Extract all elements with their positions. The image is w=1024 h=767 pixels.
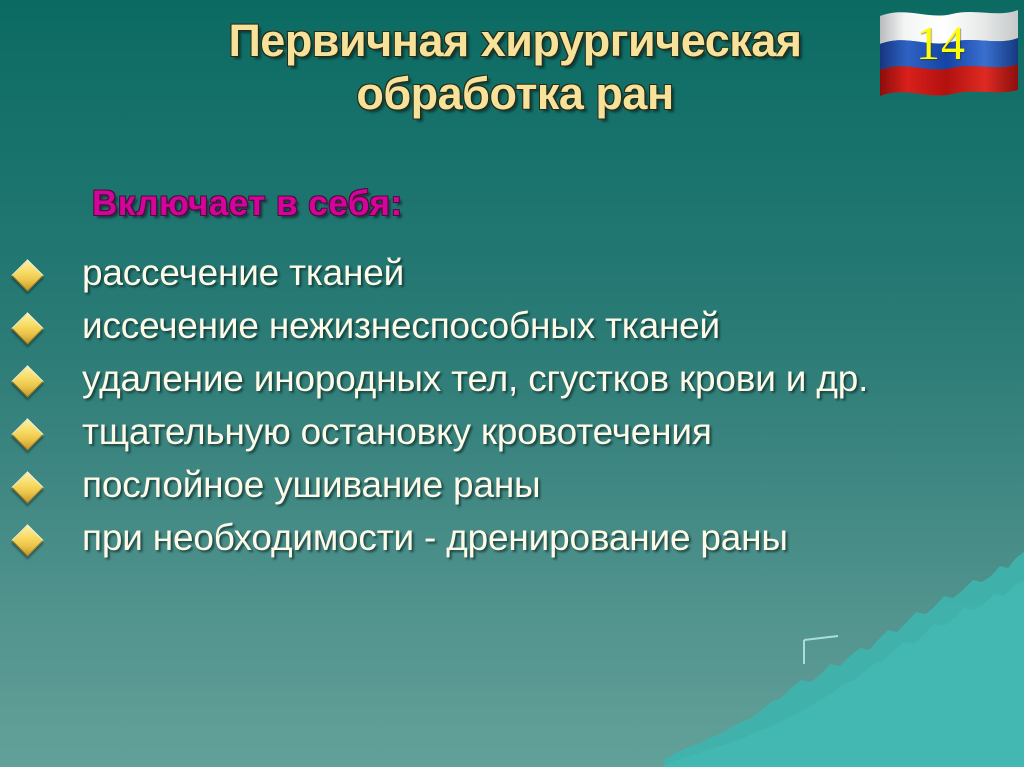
page-title: Первичная хирургическая обработка ран [120, 14, 910, 120]
list-item-label: иссечение нежизнеспособных тканей [82, 303, 1010, 350]
diamond-bullet-icon [10, 462, 82, 499]
list-item: иссечение нежизнеспособных тканей [10, 303, 1010, 350]
list-item: рассечение тканей [10, 250, 1010, 297]
list-item-label: рассечение тканей [82, 250, 1010, 297]
title-line-1: Первичная хирургическая [120, 14, 910, 67]
diamond-bullet-icon [10, 409, 82, 446]
diamond-bullet-icon [10, 515, 82, 552]
presentation-slide: Первичная хирургическая обработка ран [0, 0, 1024, 767]
slide-number: 14 [916, 20, 966, 68]
list-item-label: удаление инородных тел, сгустков крови и… [82, 356, 1010, 403]
list-item-label: при необходимости - дренирование раны [82, 515, 1010, 562]
diamond-bullet-icon [10, 356, 82, 393]
list-item: удаление инородных тел, сгустков крови и… [10, 356, 1010, 403]
list-item-label: тщательную остановку кровотечения [82, 409, 1010, 456]
title-line-2: обработка ран [120, 67, 910, 120]
diamond-bullet-icon [10, 250, 82, 287]
list-item: тщательную остановку кровотечения [10, 409, 1010, 456]
mountain-silhouette-icon [664, 552, 1024, 767]
list-item: при необходимости - дренирование раны [10, 515, 1010, 562]
list-item-label: послойное ушивание раны [82, 462, 1010, 509]
bullet-list: рассечение тканей иссечение нежизнеспосо… [10, 250, 1010, 568]
slide-subtitle: Включает в себя: [92, 184, 403, 224]
list-item: послойное ушивание раны [10, 462, 1010, 509]
diamond-bullet-icon [10, 303, 82, 340]
